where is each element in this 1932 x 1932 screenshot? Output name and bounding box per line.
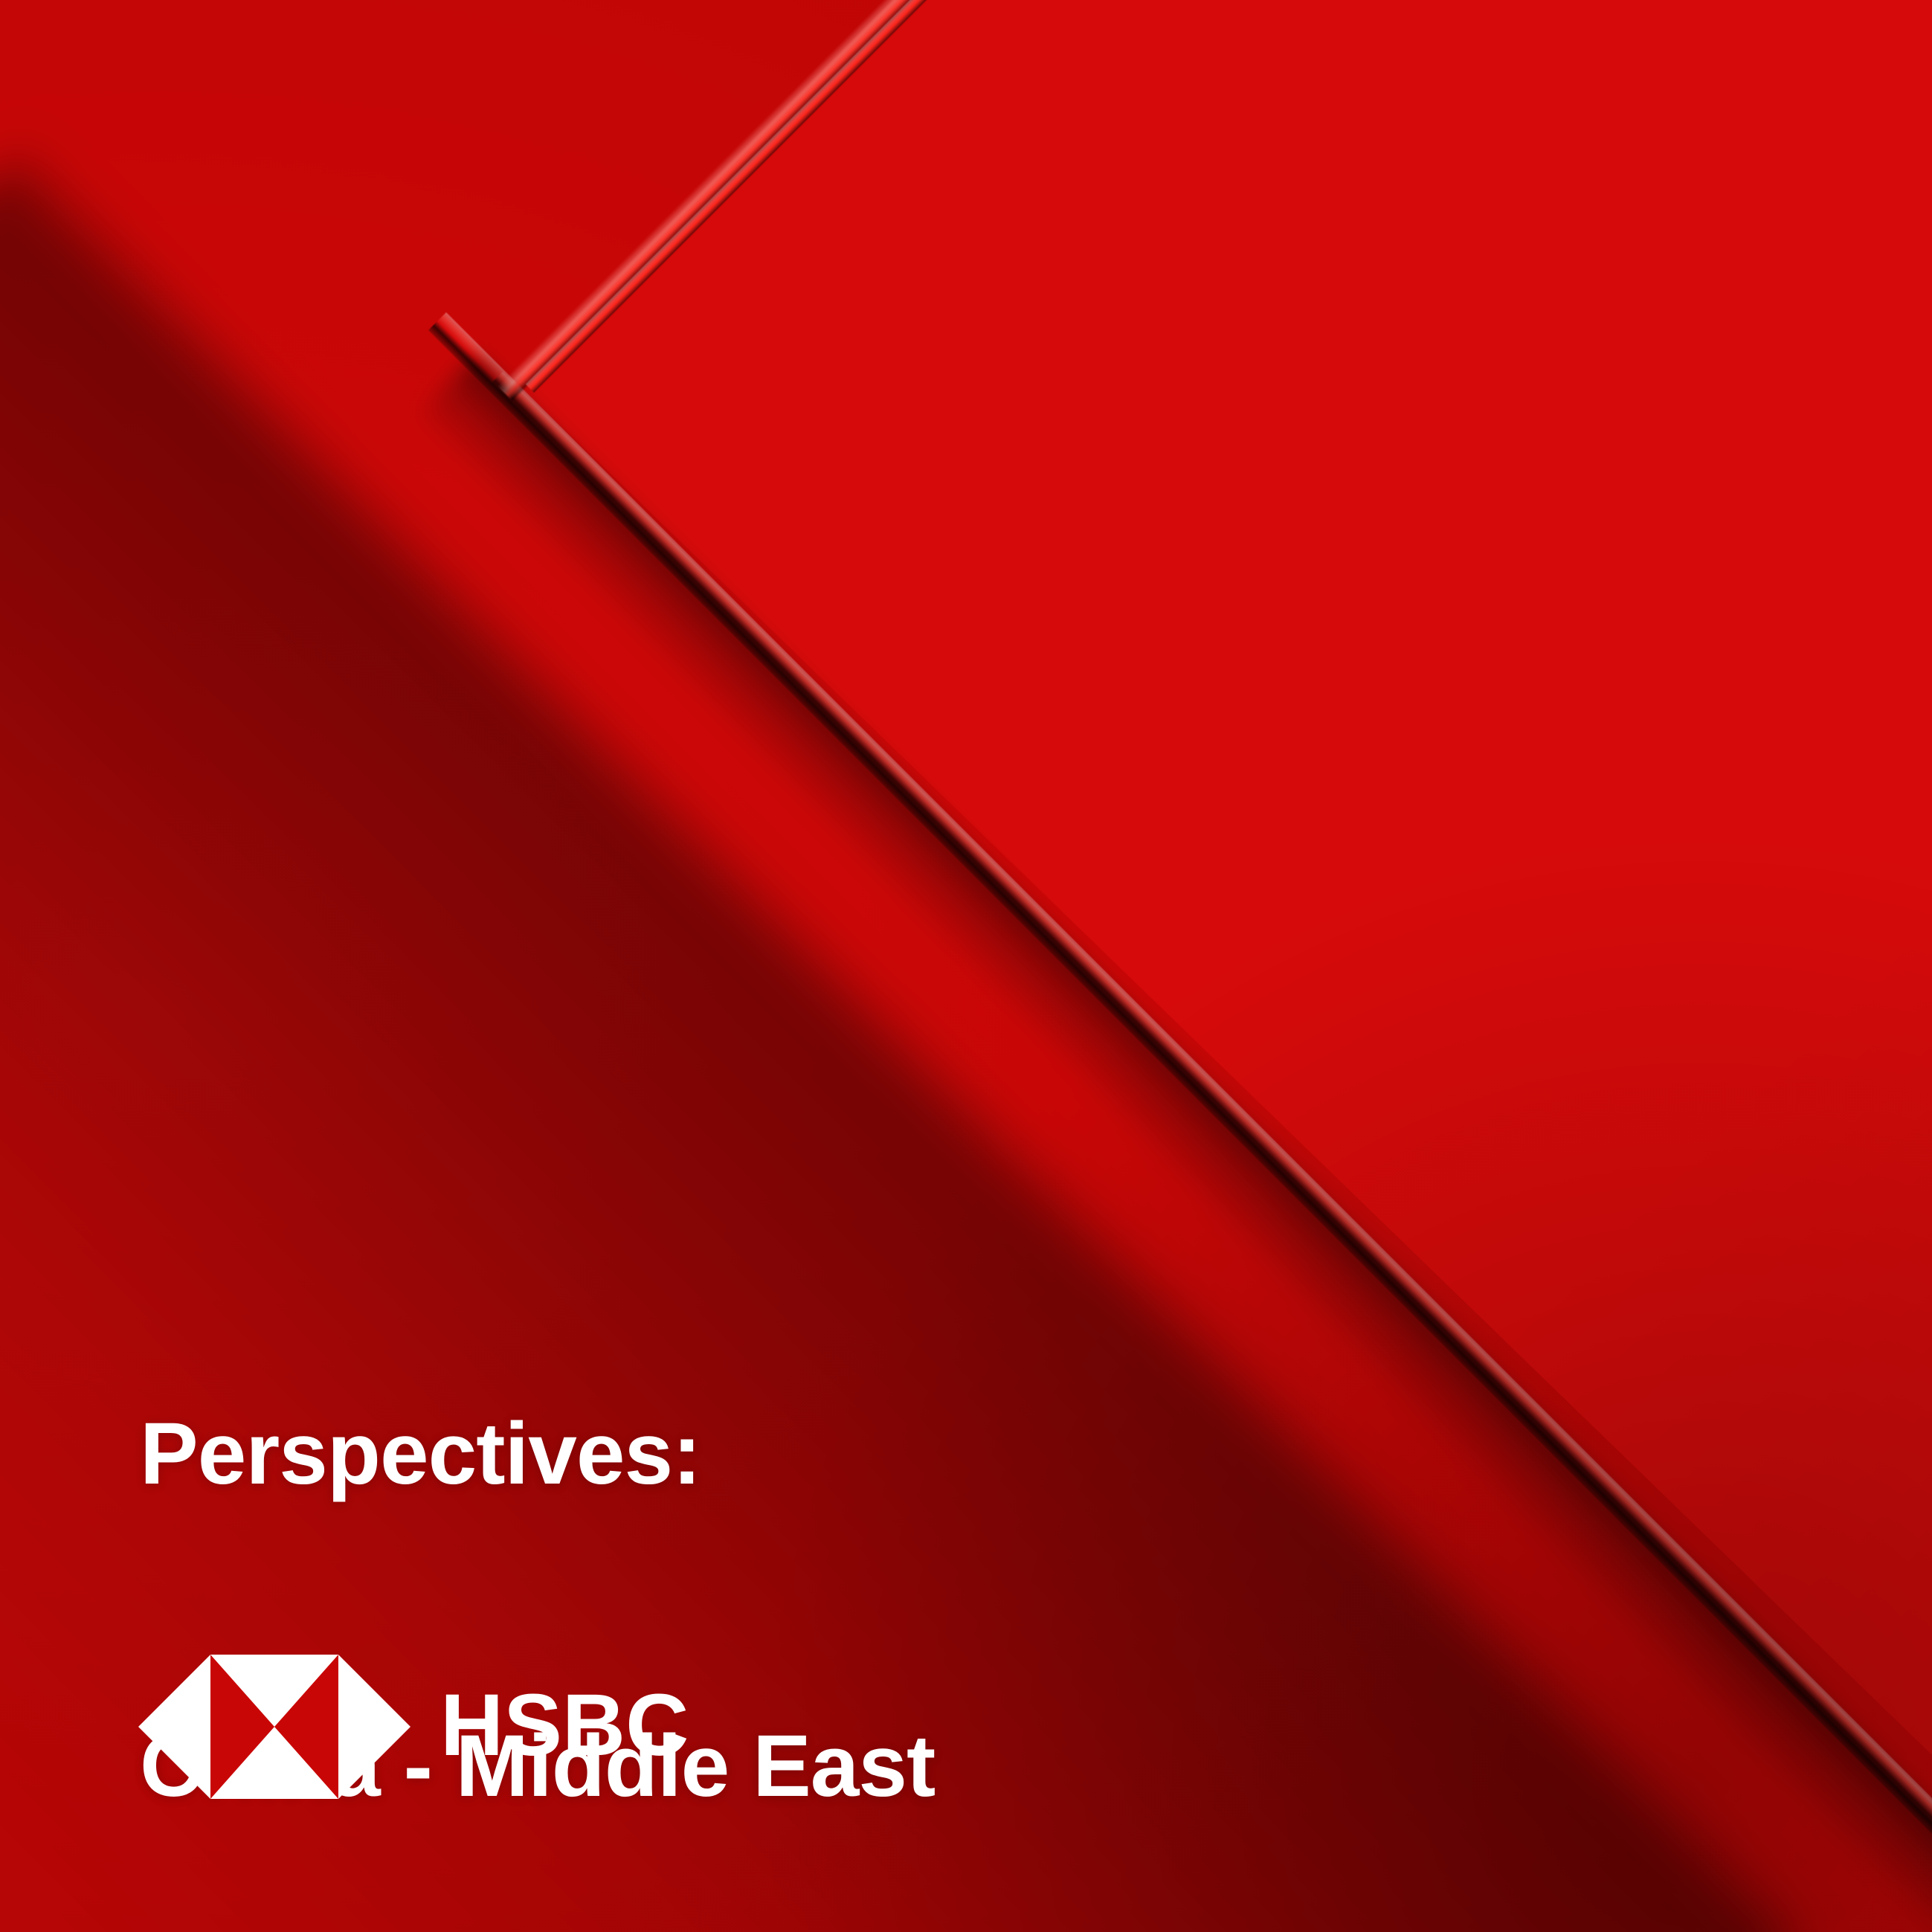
page-title: Perspectives: China - Middle East connec… [140, 1194, 935, 1932]
hsbc-logo: HSBC [138, 1652, 659, 1801]
title-line-1: Perspectives: [140, 1402, 935, 1506]
hsbc-hexagon-icon [138, 1655, 410, 1799]
brand-card: Perspectives: China - Middle East connec… [0, 0, 1932, 1932]
hsbc-wordmark: HSBC [440, 1681, 689, 1769]
